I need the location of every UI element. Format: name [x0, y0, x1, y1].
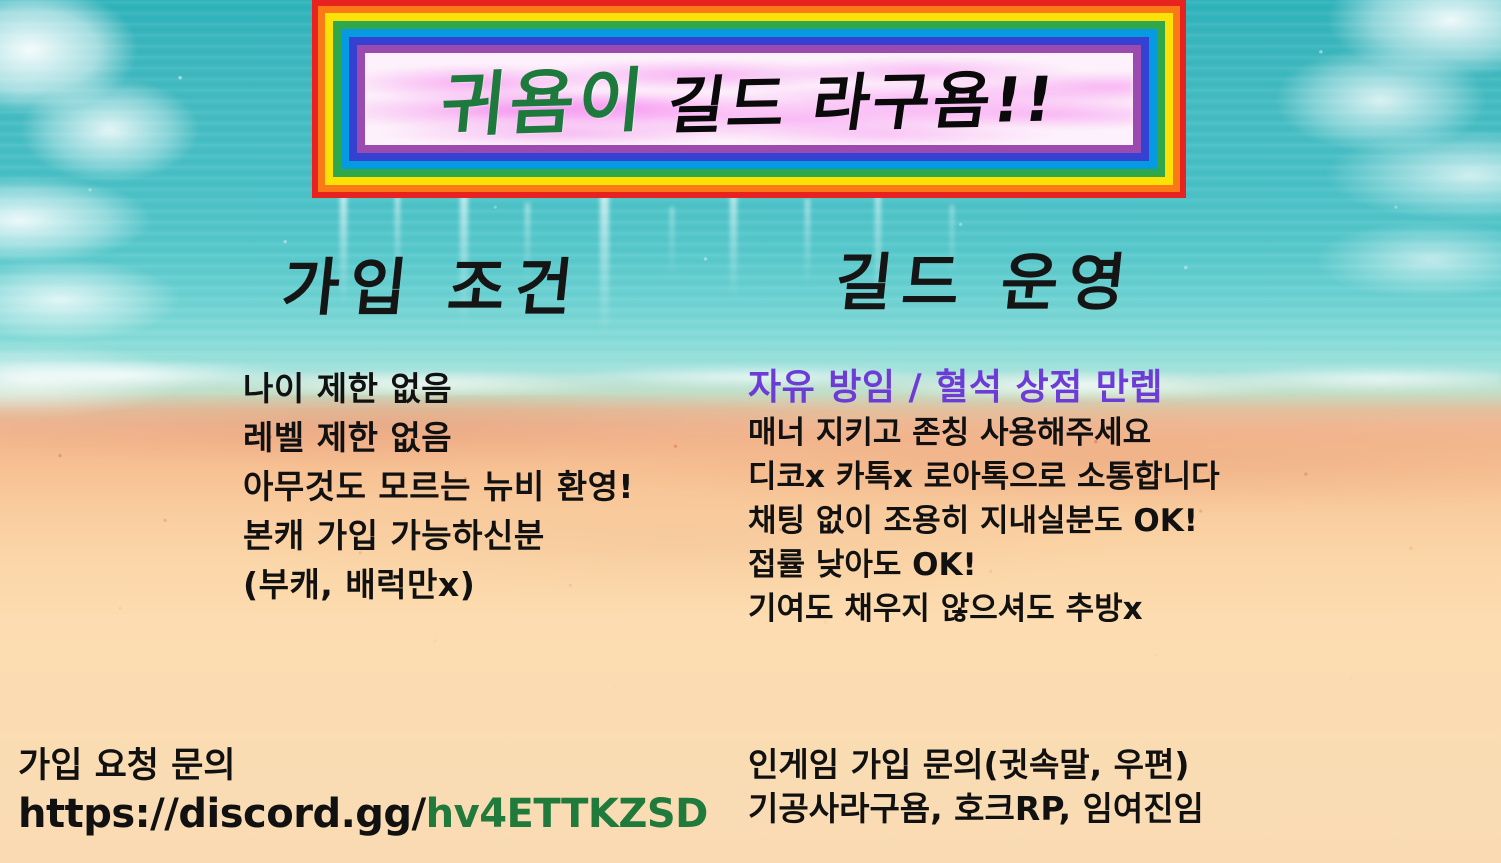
- join-condition-item: 아무것도 모르는 뉴비 환영!: [243, 470, 713, 503]
- guild-operation-item: 접률 낮아도 OK!: [748, 550, 1348, 581]
- join-condition-item: 나이 제한 없음: [243, 372, 713, 405]
- section-heading-join-conditions: 가입 조건: [278, 237, 587, 327]
- guild-tagline-black-text: 길드 라구욤!!: [662, 53, 1063, 145]
- guild-operation-item: 채팅 없이 조용히 지내실분도 OK!: [748, 506, 1348, 537]
- guild-operation-item: 디코x 카톡x 로아톡으로 소통합니다: [748, 462, 1348, 493]
- join-conditions-list: 나이 제한 없음 레벨 제한 없음 아무것도 모르는 뉴비 환영! 본캐 가입 …: [243, 372, 713, 617]
- discord-url-prefix: https://discord.gg/: [18, 791, 426, 837]
- join-request-label: 가입 요청 문의: [18, 748, 708, 785]
- ingame-join-label: 인게임 가입 문의(귓속말, 우편): [748, 748, 1204, 783]
- ingame-contact-names: 기공사라구욤, 호크RP, 임여진임: [748, 792, 1204, 827]
- discord-contact-block: 가입 요청 문의 https://discord.gg/hv4ETTKZSD: [18, 748, 708, 843]
- join-condition-item: 본캐 가입 가능하신분: [243, 519, 713, 552]
- title-banner: 귀욤이 길드 라구욤!!: [312, 0, 1186, 198]
- guild-operation-item: 기여도 채우지 않으셔도 추방x: [748, 594, 1348, 625]
- section-heading-guild-operation: 길드 운영: [831, 232, 1140, 322]
- ingame-contact-block: 인게임 가입 문의(귓속말, 우편) 기공사라구욤, 호크RP, 임여진임: [748, 748, 1204, 835]
- discord-invite-link[interactable]: https://discord.gg/hv4ETTKZSD: [18, 793, 708, 835]
- banner-title-row: 귀욤이 길드 라구욤!!: [365, 53, 1133, 145]
- banner-inner-panel: 귀욤이 길드 라구욤!!: [365, 53, 1133, 145]
- guild-name-green-text: 귀욤이: [437, 53, 653, 145]
- discord-invite-code: hv4ETTKZSD: [426, 791, 708, 837]
- guild-operation-highlight: 자유 방임 / 혈석 상점 만렙: [748, 370, 1348, 406]
- guild-operation-item: 매너 지키고 존칭 사용해주세요: [748, 418, 1348, 449]
- guild-recruitment-poster: 귀욤이 길드 라구욤!! 가입 조건 길드 운영 나이 제한 없음 레벨 제한 …: [0, 0, 1501, 863]
- join-condition-item: (부캐, 배럭만x): [243, 568, 713, 601]
- guild-operation-list: 자유 방임 / 혈석 상점 만렙 매너 지키고 존칭 사용해주세요 디코x 카톡…: [748, 370, 1348, 638]
- join-condition-item: 레벨 제한 없음: [243, 421, 713, 454]
